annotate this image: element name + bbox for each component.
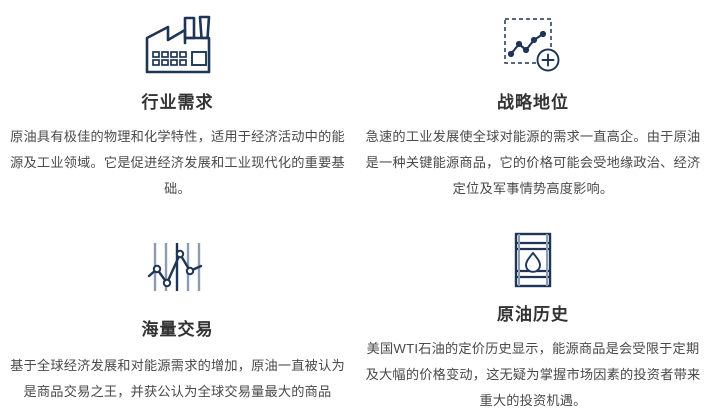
feature-description: 美国WTI石油的定价历史显示，能源商品是会受限于定期及大幅的价格变动，这无疑为掌… xyxy=(365,336,701,414)
factory-icon xyxy=(144,6,212,84)
oil-barrel-icon xyxy=(508,229,558,292)
line-chart-add-icon xyxy=(501,6,565,84)
feature-card-industry-demand: 行业需求 原油具有极佳的物理和化学特性，适用于经济活动中的能源及工业领域。它是促… xyxy=(0,0,355,207)
feature-card-strategic-position: 战略地位 急速的工业发展使全球对能源的需求一直高企。由于原油是一种关键能源商品，… xyxy=(355,0,711,207)
feature-title: 原油历史 xyxy=(497,304,569,326)
feature-grid: 行业需求 原油具有极佳的物理和化学特性，适用于经济活动中的能源及工业领域。它是促… xyxy=(0,0,711,414)
feature-title: 战略地位 xyxy=(497,92,569,114)
feature-description: 原油具有极佳的物理和化学特性，适用于经济活动中的能源及工业领域。它是促进经济发展… xyxy=(8,124,348,202)
feature-title: 行业需求 xyxy=(142,92,214,114)
feature-description: 基于全球经济发展和对能源需求的增加，原油一直被认为是商品交易之王，并获公认为全球… xyxy=(8,353,348,405)
feature-card-massive-trading: 海量交易 基于全球经济发展和对能源需求的增加，原油一直被认为是商品交易之王，并获… xyxy=(0,207,355,414)
trading-volume-icon xyxy=(147,229,209,307)
feature-description: 急速的工业发展使全球对能源的需求一直高企。由于原油是一种关键能源商品，它的价格可… xyxy=(365,124,701,202)
feature-title: 海量交易 xyxy=(142,319,214,341)
feature-card-oil-history: 原油历史 美国WTI石油的定价历史显示，能源商品是会受限于定期及大幅的价格变动，… xyxy=(355,207,711,414)
